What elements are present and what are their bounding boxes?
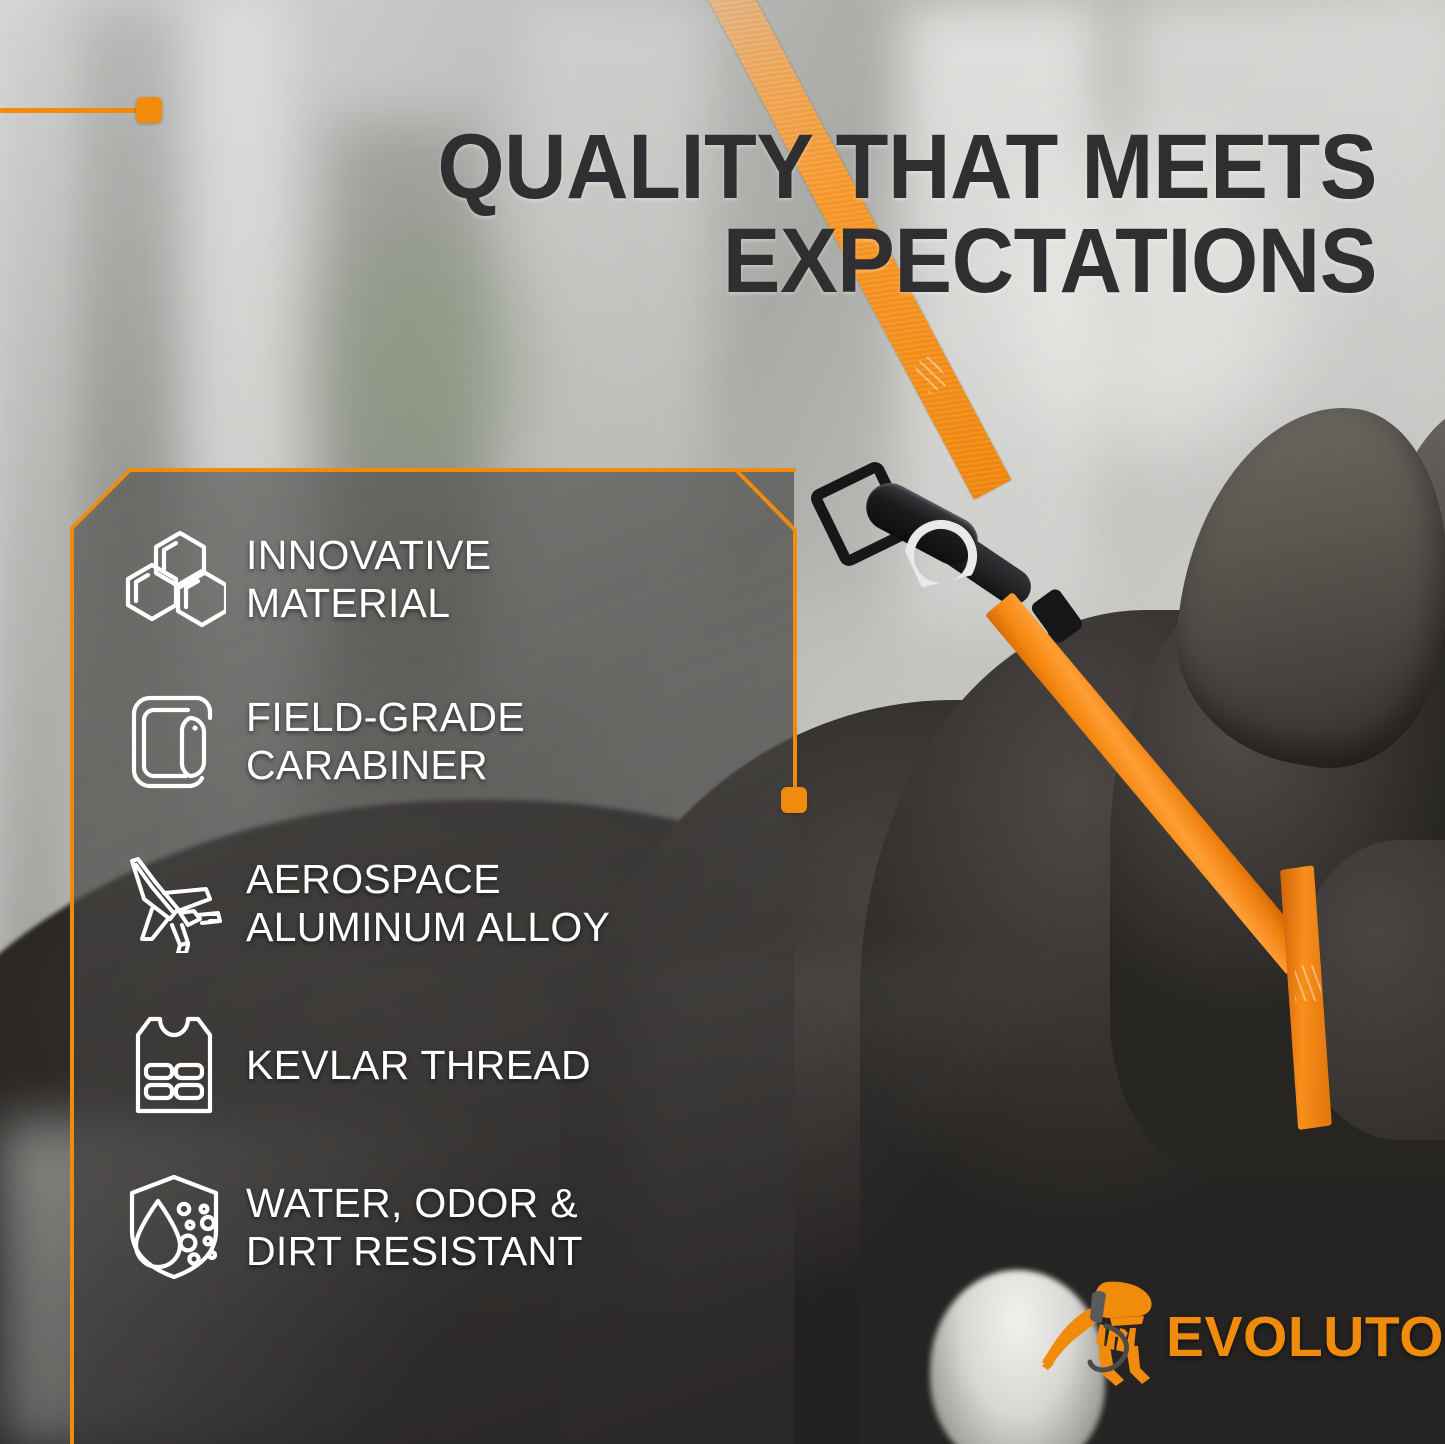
product-feature-graphic: QUALITY THAT MEETS EXPECTATIONS	[0, 0, 1445, 1444]
tactical-vest-icon	[118, 1013, 230, 1117]
feature-label: KEVLAR THREAD	[230, 1041, 591, 1089]
feature-item-water-odor-dirt-resistant: WATER, ODOR & DIRT RESISTANT	[118, 1168, 758, 1286]
feature-item-innovative-material: INNOVATIVE MATERIAL	[118, 520, 758, 638]
panel-accent-square	[781, 787, 807, 813]
feature-item-field-grade-carabiner: FIELD-GRADE CARABINER	[118, 682, 758, 800]
feature-label: AEROSPACE ALUMINUM ALLOY	[230, 855, 610, 952]
shield-water-drop-icon	[118, 1173, 230, 1281]
feature-item-kevlar-thread: KEVLAR THREAD	[118, 1006, 758, 1124]
feature-item-aerospace-aluminum-alloy: AEROSPACE ALUMINUM ALLOY	[118, 844, 758, 962]
headline-accent-line	[0, 108, 144, 113]
headline-line-2: EXPECTATIONS	[268, 214, 1377, 309]
feature-label: WATER, ODOR & DIRT RESISTANT	[230, 1179, 583, 1276]
honeycomb-hexagons-icon	[118, 527, 230, 631]
collar-logo-mark	[1295, 965, 1321, 1001]
fighter-jet-icon	[118, 853, 230, 953]
headline-line-1: QUALITY THAT MEETS	[437, 116, 1377, 218]
page-title: QUALITY THAT MEETS EXPECTATIONS	[268, 120, 1377, 310]
feature-label: FIELD-GRADE CARABINER	[230, 693, 525, 790]
carabiner-icon	[118, 688, 230, 794]
feature-list: INNOVATIVE MATERIAL FIELD-GRADE CARABINE…	[118, 520, 758, 1330]
brand-name: EVOLUTOR	[1166, 1304, 1445, 1370]
trex-skeleton-icon	[1040, 1276, 1170, 1398]
headline-accent-square	[136, 97, 162, 123]
brand-logo: EVOLUTOR	[1040, 1276, 1445, 1398]
feature-label: INNOVATIVE MATERIAL	[230, 531, 491, 628]
